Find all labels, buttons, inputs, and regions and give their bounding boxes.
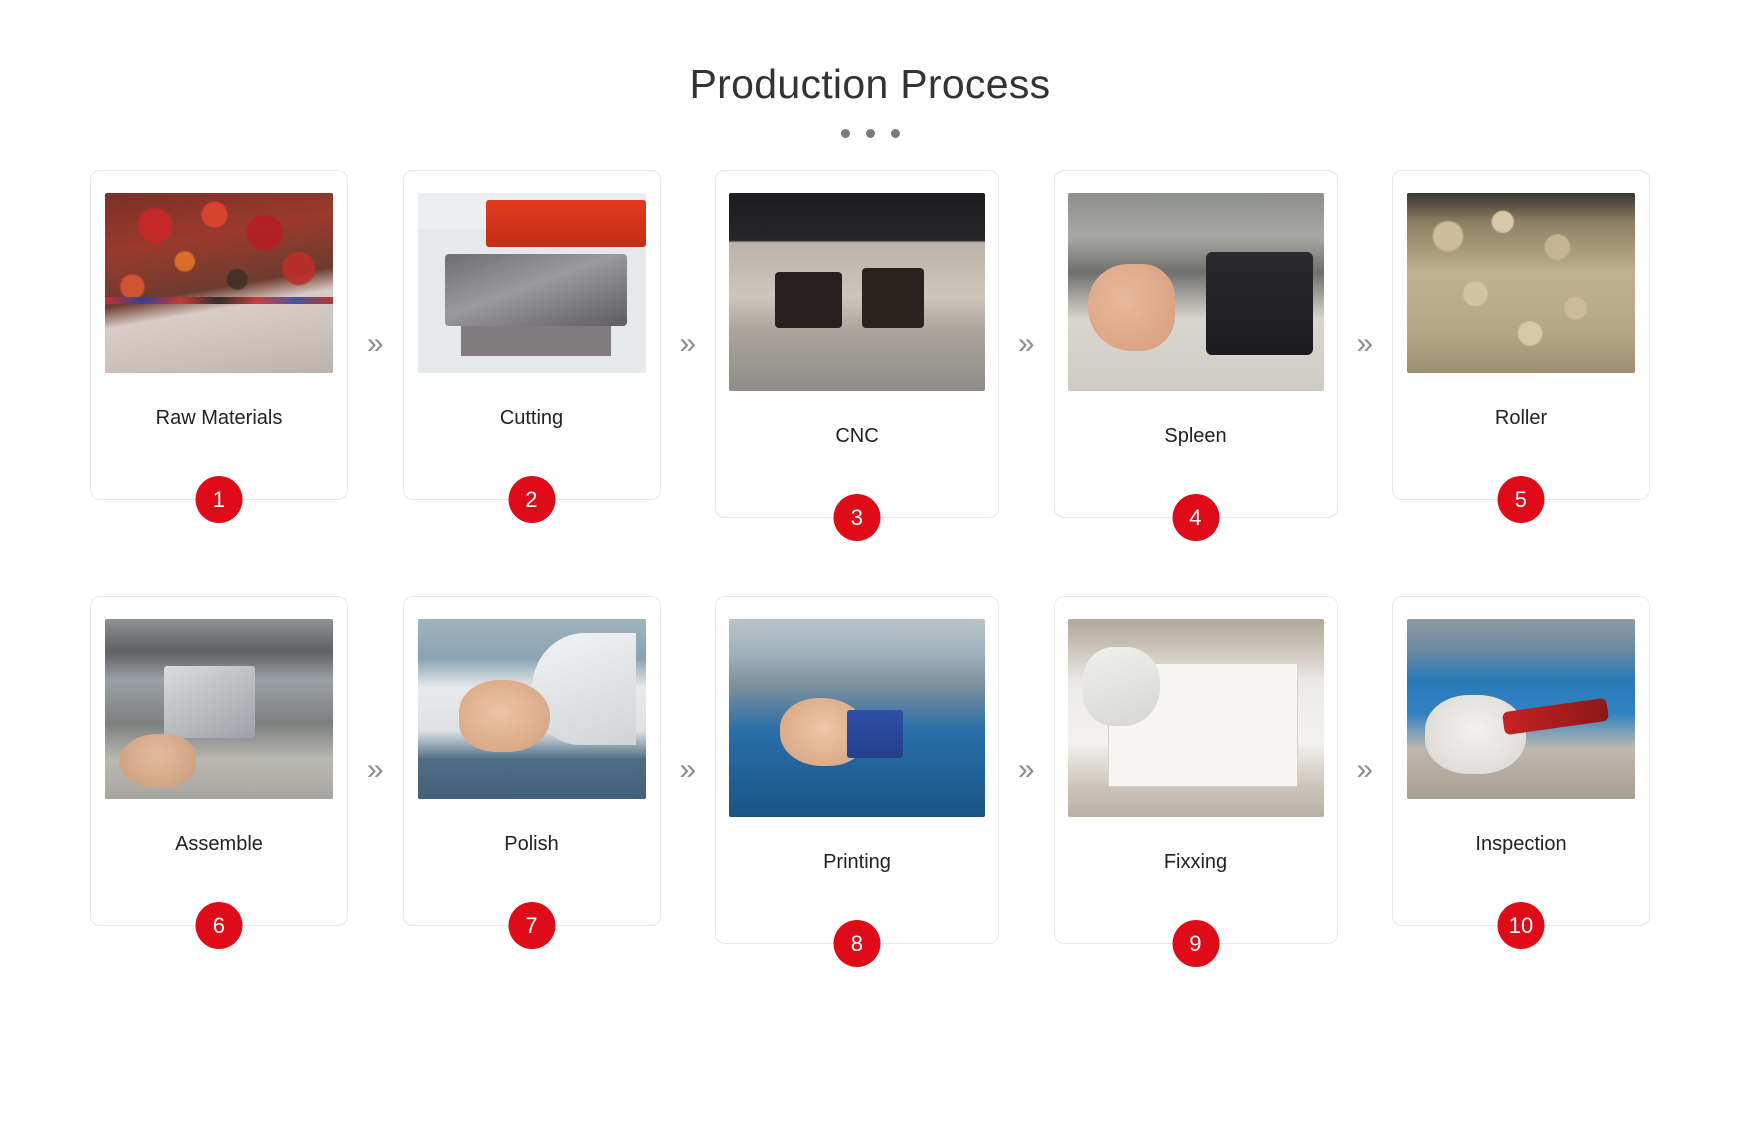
step-photo-image (418, 193, 646, 373)
double-chevron-right-icon: » (1014, 755, 1039, 785)
step-label: Inspection (1393, 832, 1649, 856)
title-decoration-dots (0, 129, 1740, 138)
step-number-badge: 6 (196, 902, 243, 949)
step-photo-image (729, 193, 985, 391)
step-number-badge: 1 (196, 476, 243, 523)
step-photo (105, 619, 333, 799)
step-label: CNC (716, 424, 998, 448)
step-photo (729, 193, 985, 391)
process-steps-container: Raw Materials1»Cutting2»CNC3»Spleen4»Rol… (0, 170, 1740, 944)
step-number-badge: 2 (508, 476, 555, 523)
process-step-card[interactable]: Printing8 (715, 596, 999, 944)
decoration-dot (891, 129, 900, 138)
decoration-dot (841, 129, 850, 138)
page-title: Production Process (0, 62, 1740, 107)
decoration-dot (866, 129, 875, 138)
step-label: Assemble (91, 832, 347, 856)
step-number-badge: 4 (1172, 494, 1219, 541)
process-step-card[interactable]: CNC3 (715, 170, 999, 518)
step-photo (1407, 193, 1635, 373)
step-photo-image (1407, 619, 1635, 799)
step-label: Raw Materials (91, 406, 347, 430)
step-photo (105, 193, 333, 373)
step-number-badge: 10 (1498, 902, 1545, 949)
step-number-badge: 7 (508, 902, 555, 949)
step-label: Fixxing (1055, 850, 1337, 874)
step-label: Cutting (404, 406, 660, 430)
step-label: Polish (404, 832, 660, 856)
process-step-card[interactable]: Inspection10 (1392, 596, 1650, 926)
process-step-card[interactable]: Polish7 (403, 596, 661, 926)
process-step-card[interactable]: Assemble6 (90, 596, 348, 926)
step-photo (418, 193, 646, 373)
process-step-card[interactable]: Cutting2 (403, 170, 661, 500)
double-chevron-right-icon: » (1352, 329, 1377, 359)
double-chevron-right-icon: » (675, 329, 700, 359)
step-label: Printing (716, 850, 998, 874)
step-photo-image (105, 619, 333, 799)
step-number-badge: 9 (1172, 920, 1219, 967)
step-number-badge: 5 (1498, 476, 1545, 523)
step-number-badge: 8 (834, 920, 881, 967)
process-step-card[interactable]: Spleen4 (1054, 170, 1338, 518)
step-photo (1407, 619, 1635, 799)
step-number-badge: 3 (834, 494, 881, 541)
double-chevron-right-icon: » (675, 755, 700, 785)
double-chevron-right-icon: » (363, 329, 388, 359)
step-label: Spleen (1055, 424, 1337, 448)
process-row: Assemble6»Polish7»Printing8»Fixxing9»Ins… (90, 596, 1650, 944)
double-chevron-right-icon: » (363, 755, 388, 785)
step-photo-image (1407, 193, 1635, 373)
double-chevron-right-icon: » (1352, 755, 1377, 785)
step-photo-image (418, 619, 646, 799)
page-header: Production Process (0, 0, 1740, 138)
step-photo (418, 619, 646, 799)
step-photo-image (1068, 619, 1324, 817)
process-step-card[interactable]: Roller5 (1392, 170, 1650, 500)
process-row: Raw Materials1»Cutting2»CNC3»Spleen4»Rol… (90, 170, 1650, 518)
step-label: Roller (1393, 406, 1649, 430)
step-photo (729, 619, 985, 817)
production-process-page: Production Process Raw Materials1»Cuttin… (0, 0, 1740, 1134)
step-photo (1068, 619, 1324, 817)
step-photo-image (729, 619, 985, 817)
step-photo-image (105, 193, 333, 373)
process-step-card[interactable]: Raw Materials1 (90, 170, 348, 500)
process-step-card[interactable]: Fixxing9 (1054, 596, 1338, 944)
step-photo-image (1068, 193, 1324, 391)
double-chevron-right-icon: » (1014, 329, 1039, 359)
step-photo (1068, 193, 1324, 391)
